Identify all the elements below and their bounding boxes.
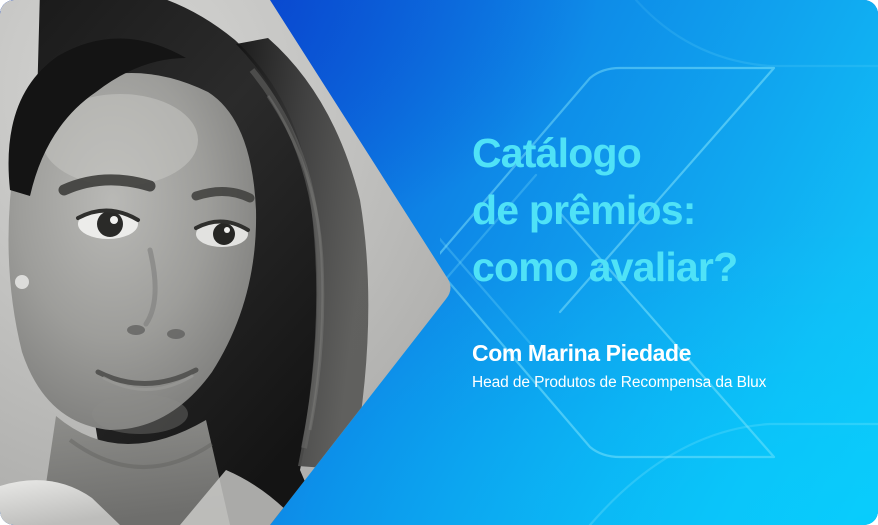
headline-line-2: de prêmios: <box>472 182 862 239</box>
banner-text-block: Catálogo de prêmios: como avaliar? Com M… <box>472 0 862 525</box>
speaker-photo <box>0 0 455 525</box>
banner-headline: Catálogo de prêmios: como avaliar? <box>472 125 862 296</box>
webinar-banner-card: Catálogo de prêmios: como avaliar? Com M… <box>0 0 878 525</box>
headline-line-1: Catálogo <box>472 125 862 182</box>
speaker-role: Head de Produtos de Recompensa da Blux <box>472 372 766 394</box>
headline-line-3: como avaliar? <box>472 239 862 296</box>
speaker-name: Com Marina Piedade <box>472 338 691 368</box>
speaker-photo-panel <box>0 0 455 525</box>
